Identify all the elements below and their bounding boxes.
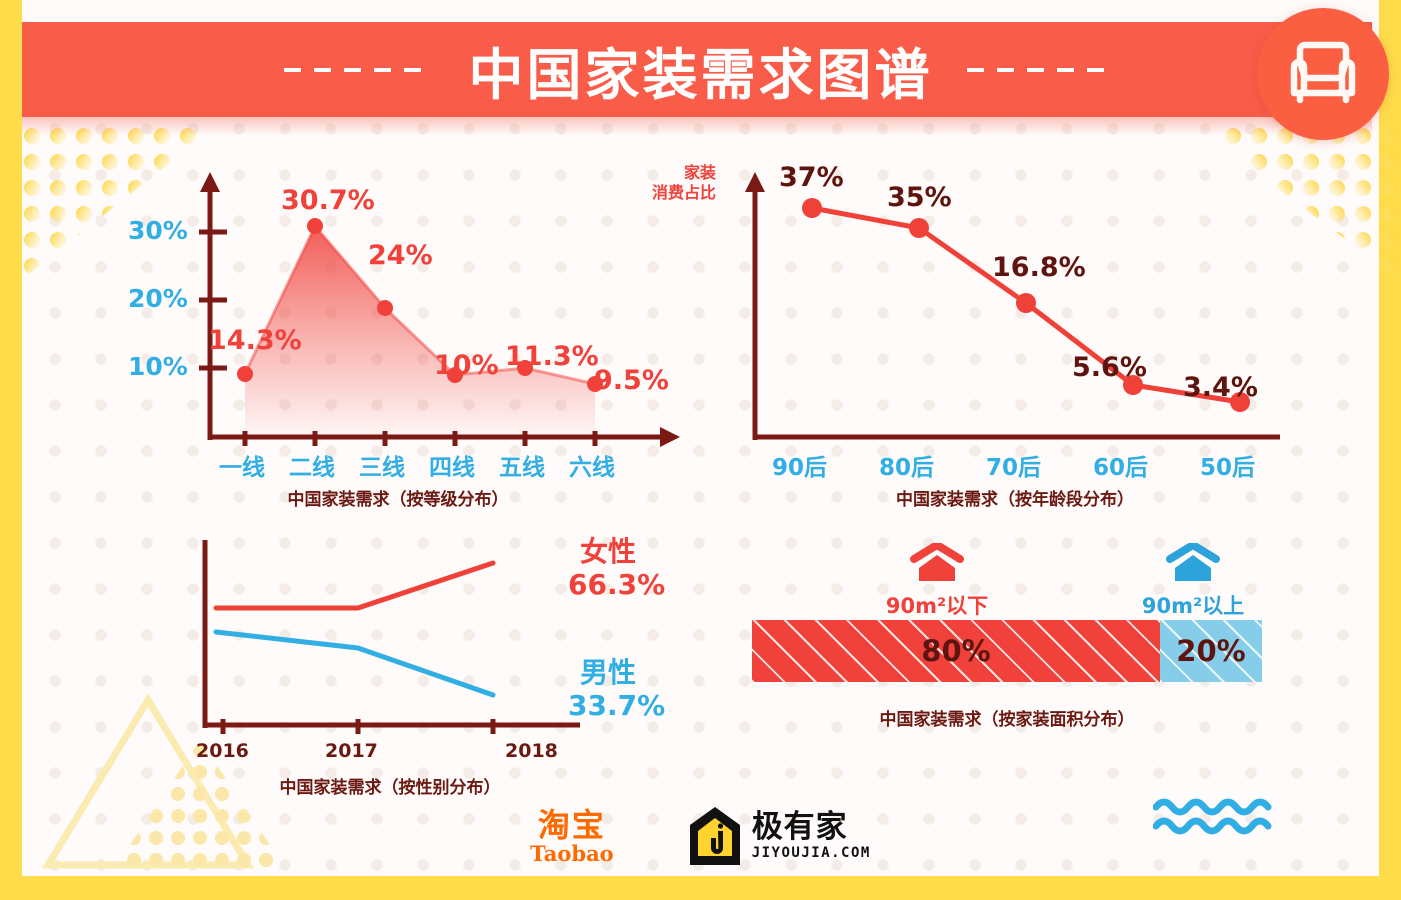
x-label-tier-6: 六线 xyxy=(569,448,615,482)
value-label-tier-4: 10% xyxy=(434,350,499,381)
armchair-icon xyxy=(1286,41,1360,107)
chart-caption-age: 中国家装需求（按年龄段分布） xyxy=(775,485,1255,510)
y-tick-label-30: 30% xyxy=(128,216,188,245)
jiyoujia-logo[interactable]: 极有家 JIYOUJIA.COM xyxy=(688,805,871,867)
chart-caption-tier: 中国家装需求（按等级分布） xyxy=(178,485,618,510)
tier-area-chart xyxy=(150,150,710,470)
x-label-tier-1: 一线 xyxy=(219,448,265,482)
female-series-line xyxy=(216,563,493,608)
header-badge xyxy=(1257,8,1389,140)
taobao-logo[interactable]: 淘宝 Taobao xyxy=(530,808,614,865)
legend-female-value: 66.3% xyxy=(568,568,665,601)
jiyoujia-logo-en: JIYOUJIA.COM xyxy=(752,844,871,862)
x-label-age-50: 50后 xyxy=(1200,448,1255,482)
page-title: 中国家装需求图谱 xyxy=(468,30,932,110)
value-label-age-90: 37% xyxy=(779,162,844,193)
value-label-tier-2: 30.7% xyxy=(281,185,375,216)
legend-male-value: 33.7% xyxy=(568,689,665,722)
house-icon xyxy=(1166,543,1220,583)
x-label-tier-5: 五线 xyxy=(499,448,545,482)
value-label-tier-6: 9.5% xyxy=(594,365,669,396)
y-axis-title-line2: 消费占比 xyxy=(640,183,716,203)
data-point xyxy=(802,198,822,218)
dash-decor-left xyxy=(284,68,434,72)
y-axis-title-line1: 家装 xyxy=(648,163,716,183)
value-label-age-80: 35% xyxy=(887,182,952,213)
x-label-2017: 2017 xyxy=(325,740,378,762)
x-label-2016: 2016 xyxy=(196,740,249,762)
house-logo-icon xyxy=(688,805,742,867)
age-line-chart xyxy=(720,150,1300,470)
data-point xyxy=(1016,293,1036,313)
value-label-tier-1: 14.3% xyxy=(208,325,302,356)
area-legend-label-above: 90m²以上 xyxy=(1108,590,1278,620)
x-label-age-90: 90后 xyxy=(772,448,827,482)
x-label-tier-2: 二线 xyxy=(289,448,335,482)
house-icon xyxy=(910,543,964,583)
y-tick-label-10: 10% xyxy=(128,352,188,381)
value-label-age-50: 3.4% xyxy=(1183,372,1258,403)
x-label-age-60: 60后 xyxy=(1093,448,1148,482)
data-point xyxy=(377,300,393,316)
jiyoujia-logo-cn: 极有家 xyxy=(752,811,871,844)
chart-caption-area: 中国家装需求（按家装面积分布） xyxy=(757,705,1257,730)
legend-female-label: 女性 xyxy=(580,535,636,568)
data-point xyxy=(237,366,253,382)
x-label-tier-3: 三线 xyxy=(359,448,405,482)
y-tick-label-20: 20% xyxy=(128,284,188,313)
value-label-tier-3: 24% xyxy=(368,240,433,271)
male-series-line xyxy=(216,632,493,695)
bar-segment-above-90: 20% xyxy=(1160,620,1262,682)
taobao-logo-en: Taobao xyxy=(530,842,614,865)
x-label-age-70: 70后 xyxy=(986,448,1041,482)
chart-caption-gender: 中国家装需求（按性别分布） xyxy=(180,773,600,798)
area-legend-below-90: 90m²以下 xyxy=(852,543,1022,620)
bar-value-above-90: 20% xyxy=(1176,634,1245,668)
x-axis-arrow xyxy=(660,427,680,447)
area-legend-label-below: 90m²以下 xyxy=(852,590,1022,620)
area-legend-above-90: 90m²以上 xyxy=(1108,543,1278,620)
data-point xyxy=(307,218,323,234)
header-shadow xyxy=(22,117,1372,135)
infographic-root: 中国家装需求图谱 xyxy=(0,0,1401,900)
x-label-2018: 2018 xyxy=(505,740,558,762)
legend-male-label: 男性 xyxy=(580,656,636,689)
bar-segment-below-90: 80% xyxy=(752,620,1160,682)
data-point xyxy=(909,218,929,238)
page-title-row: 中国家装需求图谱 xyxy=(0,22,1401,117)
x-label-tier-4: 四线 xyxy=(429,448,475,482)
bar-value-below-90: 80% xyxy=(921,634,990,668)
dash-decor-right xyxy=(967,68,1117,72)
y-axis-arrow xyxy=(745,172,765,192)
value-label-age-60: 5.6% xyxy=(1072,352,1147,383)
y-axis-arrow xyxy=(200,172,220,192)
taobao-logo-cn: 淘宝 xyxy=(530,808,614,842)
value-label-tier-5: 11.3% xyxy=(505,341,599,372)
value-label-age-70: 16.8% xyxy=(992,252,1086,283)
gender-line-chart xyxy=(180,530,600,760)
footer-logos: 淘宝 Taobao 极有家 JIYOUJIA.COM xyxy=(0,805,1401,867)
area-stacked-bar: 80% 20% xyxy=(752,620,1262,682)
x-label-age-80: 80后 xyxy=(879,448,934,482)
